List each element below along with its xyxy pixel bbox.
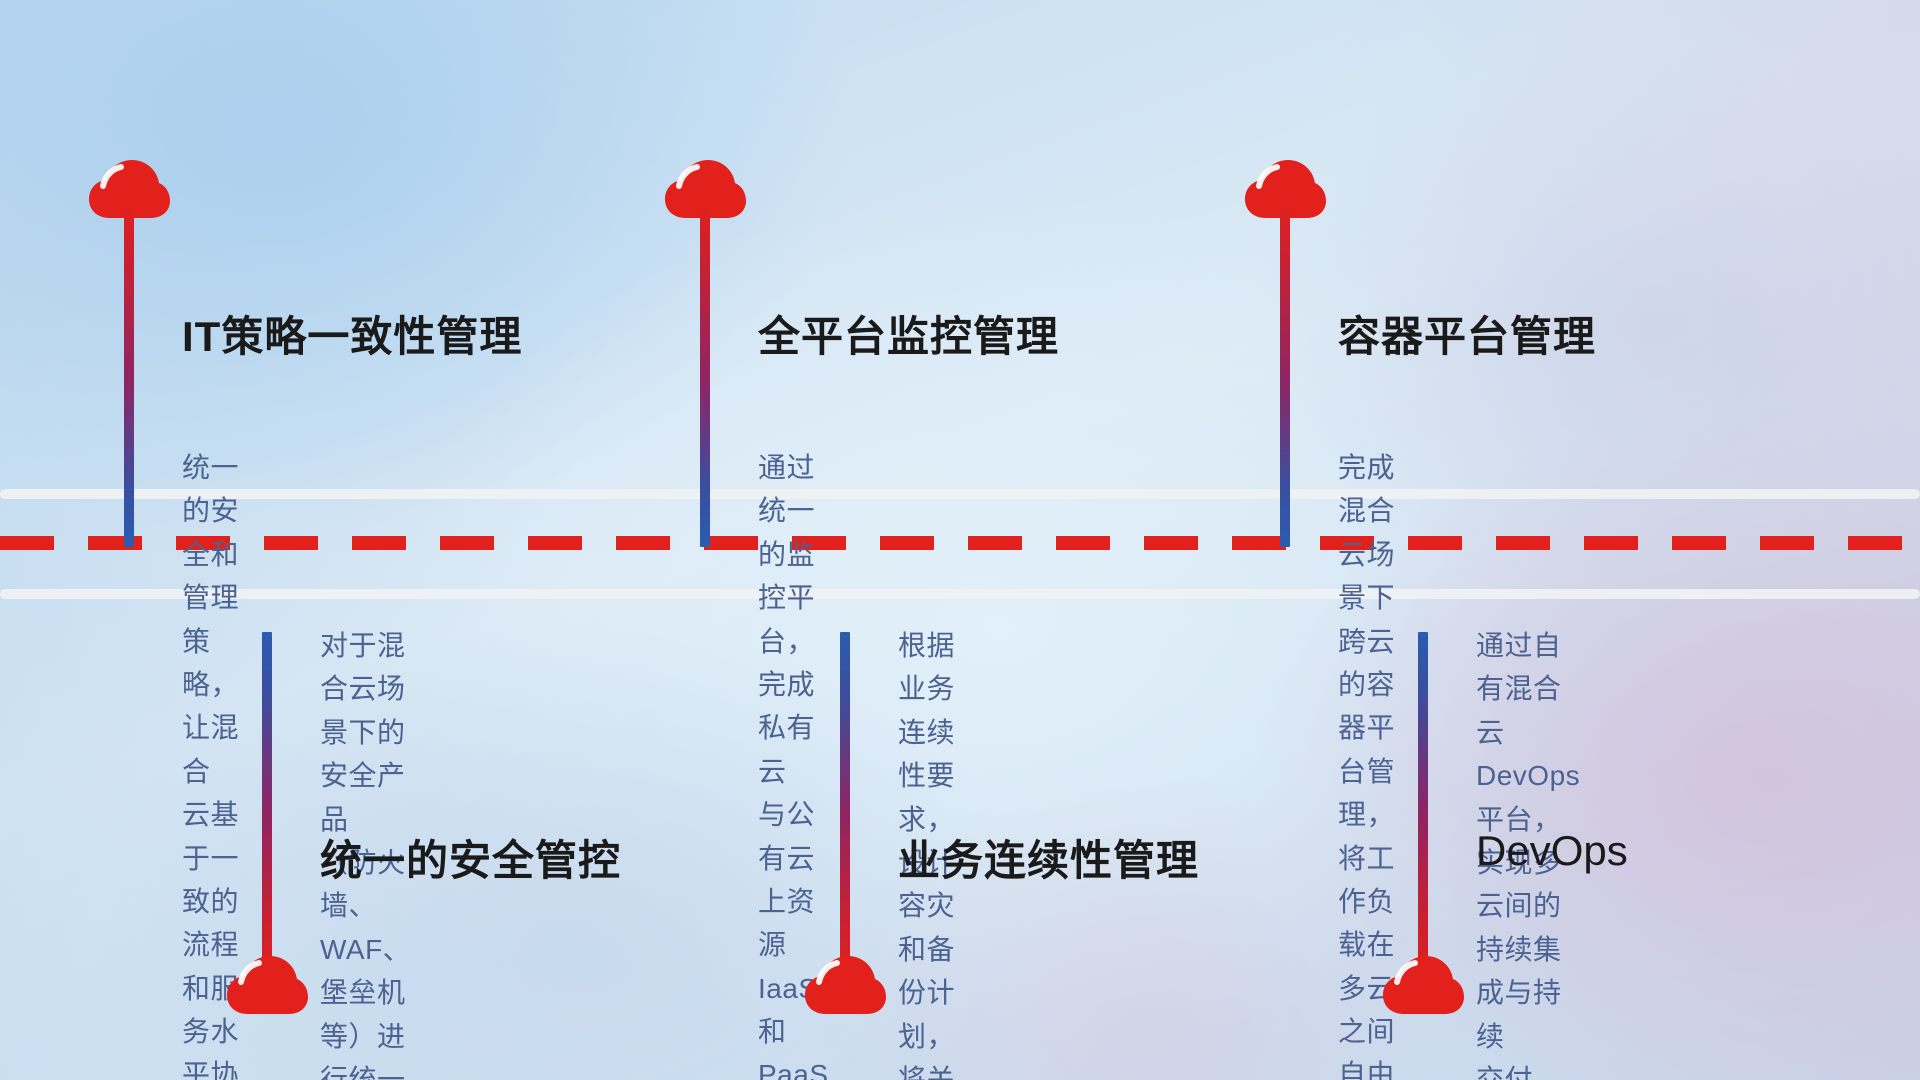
card-stem [1280,202,1290,547]
card-body-line: 与公有云上资源IaaS和PaaS的统 [758,793,829,1080]
card-stem [262,632,272,977]
card-body-line: 完成混合云场景下跨云的容器平 [1338,446,1395,750]
card-body-line: 行统一管理。 [320,1058,411,1080]
card-body-line: 对于混合云场景下的安全产品 [320,624,411,841]
card-body-line: 交付，及业务的快速迭代。 [1476,1058,1580,1080]
card-stem [840,632,850,977]
card-body-line: 通过统一的监控平台，完成私有云 [758,446,829,793]
card-stem [1418,632,1428,977]
card-body-line: 和备份计划，将关键系统备份至 [898,928,955,1080]
card-title: DevOps [1476,827,1628,875]
cloud-icon [1381,954,1465,1016]
card-body-line: 通过自有混合云DevOps平台， [1476,624,1580,841]
center-divider [0,489,1920,599]
divider-rule-top [0,489,1920,499]
card-title: IT策略一致性管理 [182,303,522,364]
card-title: 业务连续性管理 [898,827,1199,888]
card-title: 全平台监控管理 [758,303,1059,364]
card-title: 统一的安全管控 [320,827,621,888]
card-title: 容器平台管理 [1338,303,1596,364]
card-stem [124,202,134,547]
card-body-line: 云基于一致的流程和服务水平协 [182,793,239,1080]
dashed-line-icon [0,536,1920,550]
divider-dashed-line [0,536,1920,550]
divider-rule-bottom [0,589,1920,599]
cloud-icon [803,954,887,1016]
card-body-line: 自由迁移。 [1338,1053,1395,1080]
card-stem [700,202,710,547]
cloud-icon [225,954,309,1016]
card-body-line: 统一的安全和管理策略，让混合 [182,446,239,793]
